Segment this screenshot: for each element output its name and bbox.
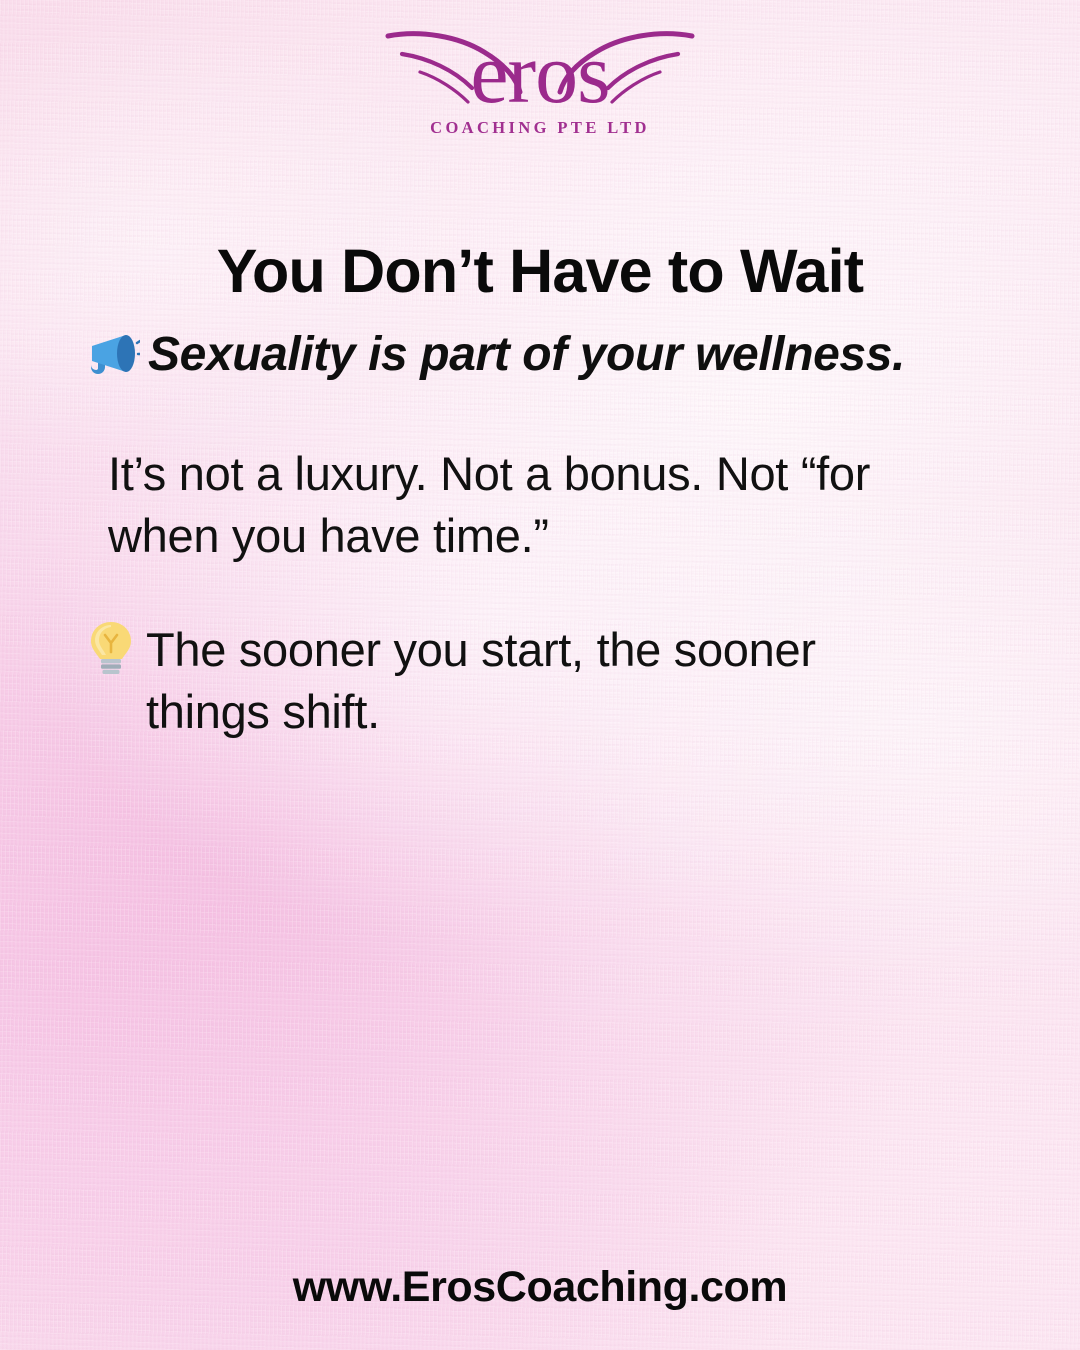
footer-website-url[interactable]: www.ErosCoaching.com: [0, 1263, 1080, 1312]
body-copy: Sexuality is part of your wellness. It’s…: [88, 328, 1000, 743]
lede-text: Sexuality is part of your wellness.: [148, 328, 905, 383]
logo-wordmark: eros: [380, 30, 700, 116]
tip-line: The sooner you start, the sooner things …: [88, 619, 1000, 743]
body-paragraph: It’s not a luxury. Not a bonus. Not “for…: [108, 443, 928, 567]
tip-text: The sooner you start, the sooner things …: [146, 619, 946, 743]
megaphone-emoji-icon: [88, 328, 140, 382]
brand-logo: eros COACHING PTE LTD: [0, 14, 1080, 134]
logo-tagline: COACHING PTE LTD: [380, 118, 700, 138]
logo-mark: eros COACHING PTE LTD: [380, 14, 700, 134]
social-post-canvas: eros COACHING PTE LTD You Don’t Have to …: [0, 0, 1080, 1350]
lightbulb-emoji-icon: [88, 619, 134, 677]
lede-line: Sexuality is part of your wellness.: [88, 328, 1000, 383]
page-title: You Don’t Have to Wait: [0, 238, 1080, 305]
